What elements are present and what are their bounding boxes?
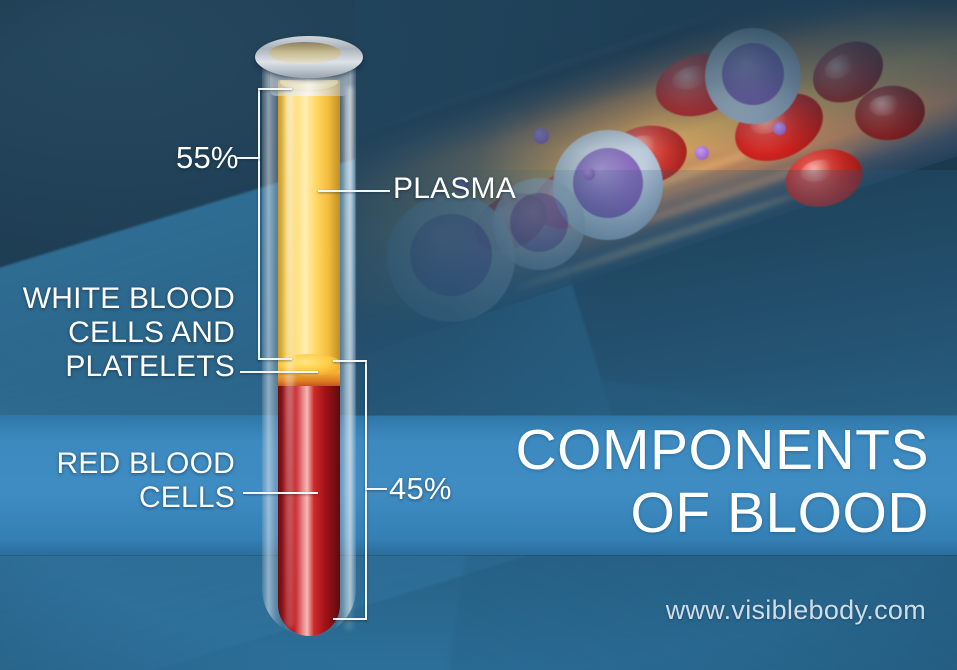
plasma-label: PLASMA: [393, 172, 516, 206]
illustration-canvas: COMPONENTS OF BLOOD www.visiblebody.com …: [0, 0, 957, 670]
title-line-1: COMPONENTS: [515, 418, 929, 482]
wbc-label-line-3: PLATELETS: [65, 350, 235, 383]
red-blood-cells-label: RED BLOOD CELLS: [30, 447, 235, 515]
bracket-55-top-cap: [258, 88, 292, 90]
bracket-55-vertical: [258, 88, 260, 360]
white-blood-cells-label: WHITE BLOOD CELLS AND PLATELETS: [10, 282, 235, 384]
bracket-45-vertical: [365, 360, 367, 620]
tube-rim: [255, 36, 363, 78]
plasma-leader-line: [318, 190, 390, 192]
test-tube: [259, 36, 359, 636]
rbc-label-line-1: RED BLOOD: [56, 447, 235, 480]
white-blood-cells-leader-line: [240, 371, 318, 373]
bracket-45-top-cap: [333, 360, 367, 362]
red-blood-cells-leader-line: [243, 492, 318, 494]
tube-highlight-right: [345, 86, 353, 631]
bracket-45-tick: [365, 488, 387, 490]
rbc-label-line-2: CELLS: [139, 481, 235, 514]
tube-rim-opening: [269, 42, 341, 64]
site-url: www.visiblebody.com: [666, 595, 926, 626]
wbc-label-line-2: CELLS AND: [68, 316, 235, 349]
wbc-label-line-1: WHITE BLOOD: [23, 282, 235, 315]
red-cells-percent-label: 45%: [389, 471, 452, 507]
bracket-55-tick: [237, 157, 260, 159]
plasma-percent-label: 55%: [176, 140, 239, 176]
bracket-55-bottom-cap: [258, 358, 292, 360]
bracket-45-bottom-cap: [333, 618, 367, 620]
